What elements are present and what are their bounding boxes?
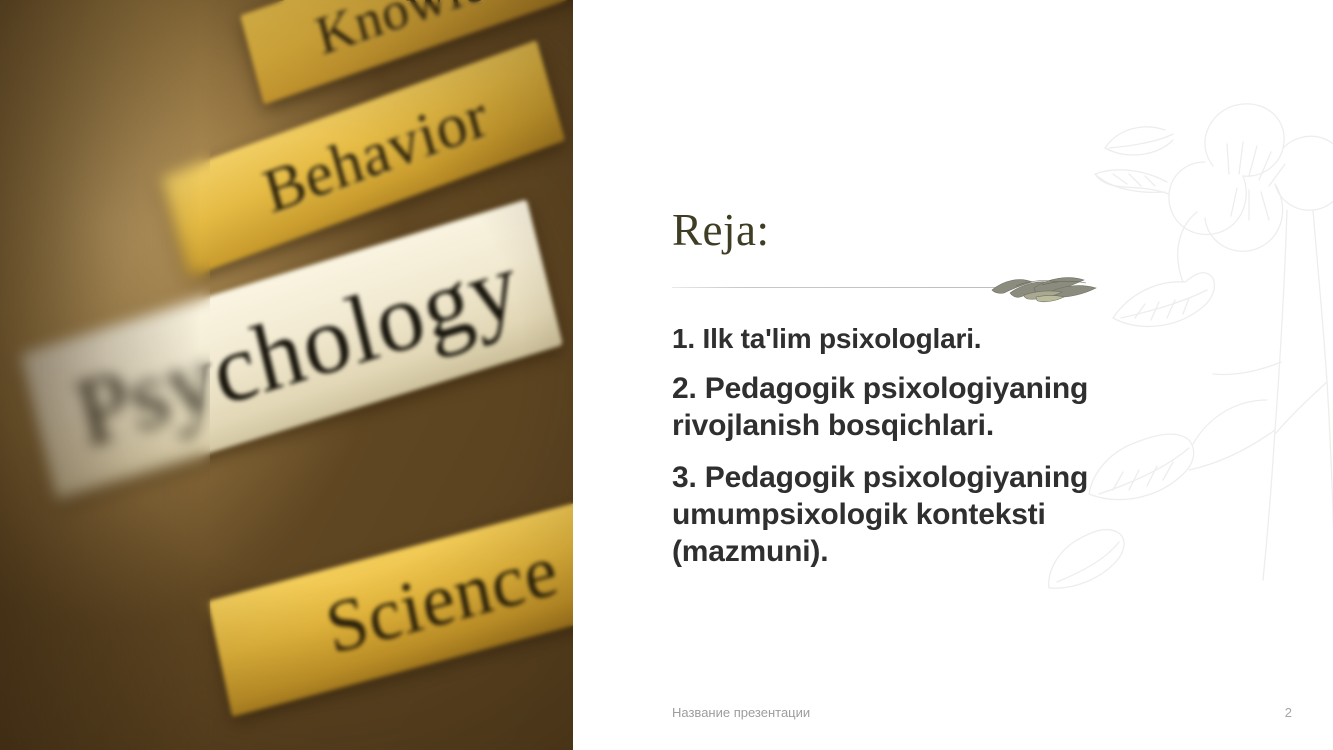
slide-photo: Knowledge Behavior Psychology Science	[0, 0, 573, 750]
slide-footer: Название презентации 2	[672, 705, 1292, 720]
presentation-slide: Knowledge Behavior Psychology Science	[0, 0, 1333, 750]
slide-content: Reja: 1. Ilk ta'lim psixologlari. 2. Ped…	[573, 0, 1333, 750]
leaf-flourish-ornament	[990, 273, 1098, 305]
agenda-item-3: 3. Pedagogik psixologiyaning umumpsixolo…	[672, 459, 1172, 571]
presentation-name: Название презентации	[672, 705, 810, 720]
page-title: Reja:	[672, 208, 769, 253]
agenda-list: 1. Ilk ta'lim psixologlari. 2. Pedagogik…	[672, 322, 1172, 570]
agenda-item-2: 2. Pedagogik psixologiyaning rivojlanish…	[672, 370, 1172, 444]
photo-vignette	[0, 0, 573, 750]
agenda-item-1: 1. Ilk ta'lim psixologlari.	[672, 322, 1172, 356]
page-number: 2	[1285, 705, 1292, 720]
title-divider	[672, 273, 1097, 313]
divider-line	[672, 287, 1012, 288]
